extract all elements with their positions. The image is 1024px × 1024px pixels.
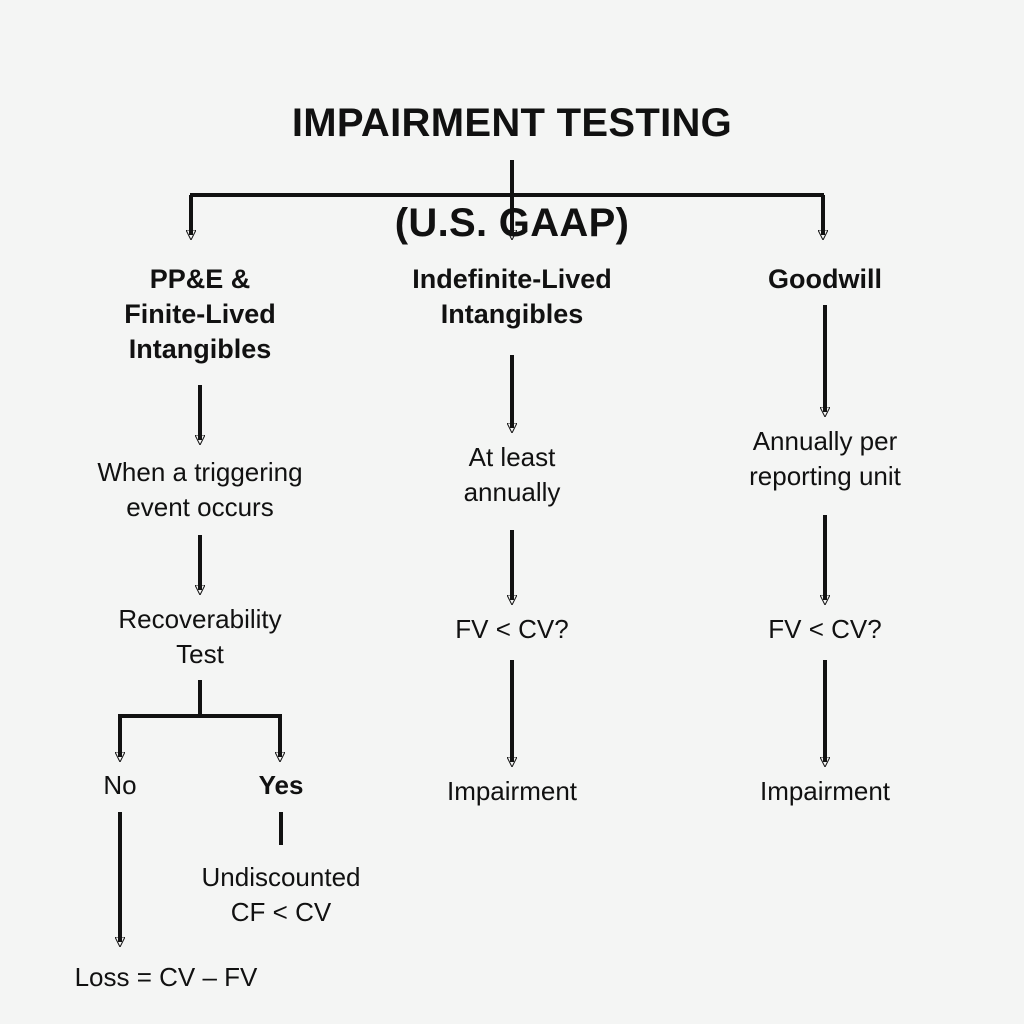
indefinite-outcome-node: Impairment	[392, 774, 632, 809]
ppe-answer-yes: Yes	[221, 768, 341, 803]
diagram-title-line1: IMPAIRMENT TESTING	[162, 98, 862, 148]
branch-header-indefinite: Indefinite-Lived Intangibles	[362, 262, 662, 332]
branch-header-ppe: PP&E & Finite-Lived Intangibles	[60, 262, 340, 367]
indefinite-frequency-node: At least annually	[392, 440, 632, 510]
ppe-outcome-loss: Loss = CV – FV	[35, 960, 297, 995]
goodwill-outcome-node: Impairment	[705, 774, 945, 809]
ppe-answer-no: No	[60, 768, 180, 803]
branch-header-goodwill: Goodwill	[705, 262, 945, 297]
goodwill-test-node: FV < CV?	[705, 612, 945, 647]
flowchart-canvas: IMPAIRMENT TESTING (U.S. GAAP) PP&E & Fi…	[0, 0, 1024, 1024]
ppe-recoverability-test-node: Recoverability Test	[60, 602, 340, 672]
goodwill-frequency-node: Annually per reporting unit	[700, 424, 950, 494]
indefinite-test-node: FV < CV?	[392, 612, 632, 647]
ppe-yes-detail-node: Undiscounted CF < CV	[140, 860, 422, 930]
diagram-title-line2: (U.S. GAAP)	[162, 198, 862, 248]
diagram-title: IMPAIRMENT TESTING (U.S. GAAP)	[162, 48, 862, 298]
ppe-trigger-node: When a triggering event occurs	[50, 455, 350, 525]
